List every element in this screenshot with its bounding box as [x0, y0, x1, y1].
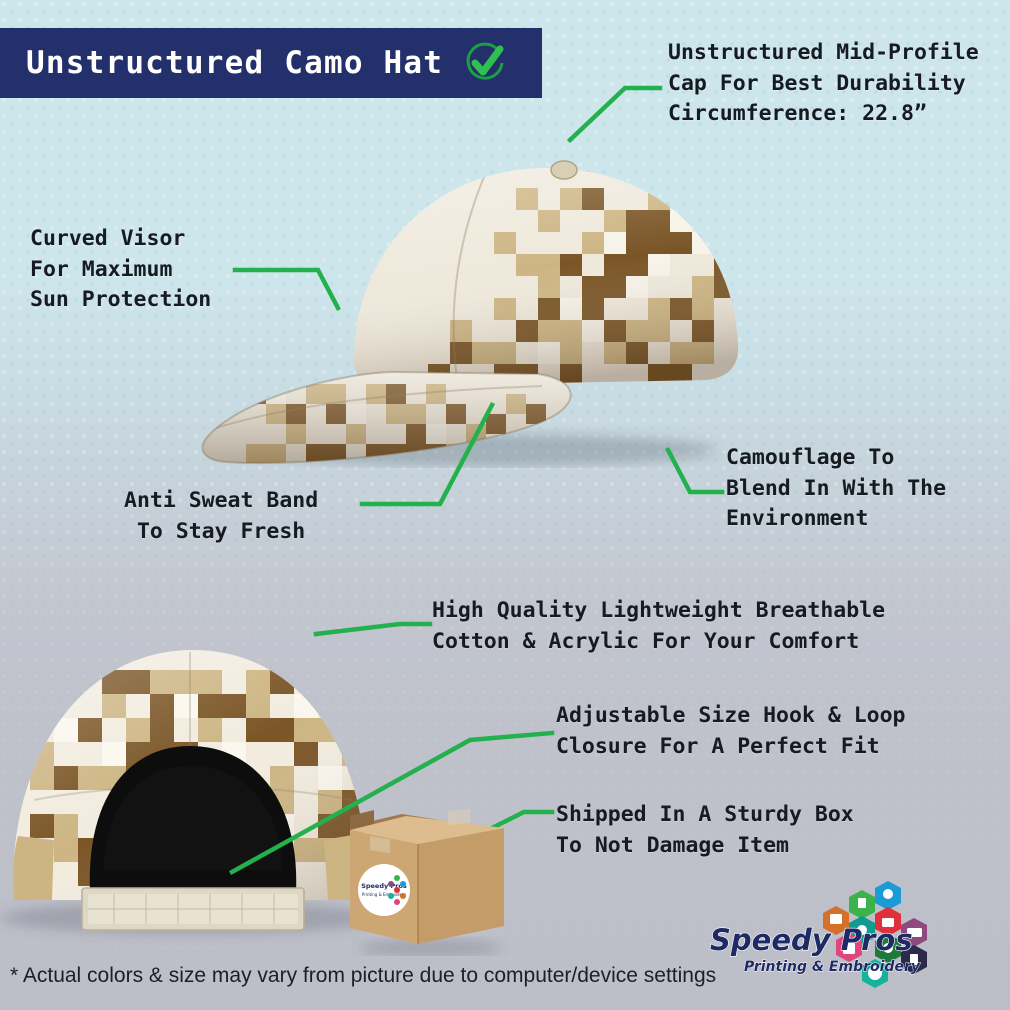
callout-closure-line-1: Adjustable Size Hook & Loop	[556, 701, 906, 732]
disclaimer-text: * Actual colors & size may vary from pic…	[10, 964, 716, 988]
callout-sweat-band-line-1: Anti Sweat Band	[124, 486, 318, 517]
page-title: Unstructured Camo Hat	[26, 45, 443, 81]
callout-closure: Adjustable Size Hook & Loop Closure For …	[556, 701, 906, 762]
camo-hat-side-view-photo	[186, 128, 752, 468]
callout-mid-profile: Unstructured Mid-Profile Cap For Best Du…	[668, 38, 979, 130]
callout-camouflage-line-2: Blend In With The	[726, 474, 946, 505]
callout-sweat-band: Anti Sweat Band To Stay Fresh	[124, 486, 318, 547]
callout-camouflage-line-3: Environment	[726, 504, 946, 535]
camo-hat-back-view-photo	[0, 600, 394, 960]
callout-camouflage: Camouflage To Blend In With The Environm…	[726, 443, 946, 535]
svg-text:Printing & Embroidery: Printing & Embroidery	[362, 892, 407, 897]
callout-closure-line-2: Closure For A Perfect Fit	[556, 732, 906, 763]
callout-mid-profile-line-2: Cap For Best Durability	[668, 69, 979, 100]
svg-text:Speedy Pros: Speedy Pros	[361, 882, 407, 890]
title-banner: Unstructured Camo Hat	[0, 28, 542, 98]
callout-fabric-line-1: High Quality Lightweight Breathable	[432, 596, 885, 627]
speedy-pros-logo: Speedy Pros Printing & Embroidery	[702, 876, 1002, 994]
callout-curved-visor-line-3: Sun Protection	[30, 285, 211, 316]
callout-curved-visor-line-2: For Maximum	[30, 255, 211, 286]
callout-curved-visor: Curved Visor For Maximum Sun Protection	[30, 224, 211, 316]
logo-brand-text: Speedy Pros	[710, 923, 913, 957]
infographic-page: Speedy Pros Printing & Embroidery	[0, 0, 1010, 1010]
callout-mid-profile-line-3: Circumference: 22.8”	[668, 99, 979, 130]
callout-curved-visor-line-1: Curved Visor	[30, 224, 211, 255]
callout-camouflage-line-1: Camouflage To	[726, 443, 946, 474]
callout-shipping: Shipped In A Sturdy Box To Not Damage It…	[556, 800, 854, 861]
callout-sweat-band-line-2: To Stay Fresh	[124, 517, 318, 548]
callout-shipping-line-2: To Not Damage Item	[556, 831, 854, 862]
callout-fabric-line-2: Cotton & Acrylic For Your Comfort	[432, 627, 885, 658]
logo-tagline-text: Printing & Embroidery	[744, 959, 921, 975]
callout-mid-profile-line-1: Unstructured Mid-Profile	[668, 38, 979, 69]
cardboard-shipping-box-photo: Speedy Pros Printing & Embroidery	[344, 808, 510, 956]
callout-shipping-line-1: Shipped In A Sturdy Box	[556, 800, 854, 831]
check-circle-icon	[463, 41, 507, 85]
callout-fabric: High Quality Lightweight Breathable Cott…	[432, 596, 885, 657]
